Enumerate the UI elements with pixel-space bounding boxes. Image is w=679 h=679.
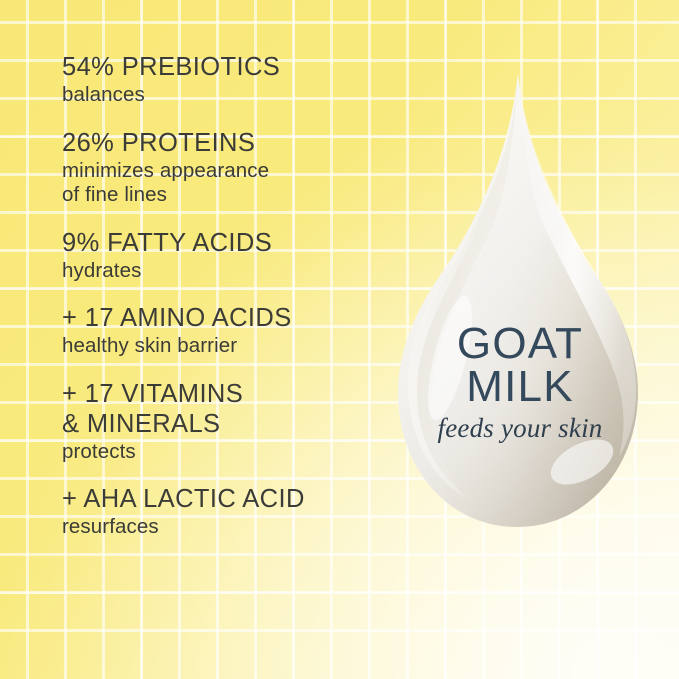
ingredient-item-aha-lactic-acid: + AHA LACTIC ACID resurfaces	[62, 484, 382, 540]
ingredient-benefit: minimizes appearance of fine lines	[62, 159, 382, 208]
ingredient-benefit: protects	[62, 440, 382, 465]
brand-tagline: feeds your skin	[396, 412, 644, 444]
ingredient-heading: 54% PREBIOTICS	[62, 52, 382, 82]
brand-name-line-2: MILK	[396, 365, 644, 408]
ingredient-benefit: balances	[62, 83, 382, 108]
ingredient-heading: + 17 AMINO ACIDS	[62, 303, 382, 333]
brand-name-line-1: GOAT	[396, 322, 644, 365]
ingredient-item-vitamins-minerals: + 17 VITAMINS & MINERALS protects	[62, 379, 382, 465]
ingredient-benefit: healthy skin barrier	[62, 334, 382, 359]
ingredient-benefit: resurfaces	[62, 515, 382, 540]
brand-lockup: GOAT MILK feeds your skin	[396, 322, 644, 444]
ingredient-item-fatty-acids: 9% FATTY ACIDS hydrates	[62, 228, 382, 284]
milk-droplet-icon	[386, 58, 654, 550]
ingredient-item-amino-acids: + 17 AMINO ACIDS healthy skin barrier	[62, 303, 382, 359]
ingredient-item-proteins: 26% PROTEINS minimizes appearance of fin…	[62, 128, 382, 208]
ingredient-heading: 9% FATTY ACIDS	[62, 228, 382, 258]
ingredient-heading: 26% PROTEINS	[62, 128, 382, 158]
ingredient-heading: + 17 VITAMINS & MINERALS	[62, 379, 382, 439]
ingredient-list: 54% PREBIOTICS balances 26% PROTEINS min…	[62, 52, 382, 540]
ingredient-heading: + AHA LACTIC ACID	[62, 484, 382, 514]
ingredient-item-prebiotics: 54% PREBIOTICS balances	[62, 52, 382, 108]
ingredient-benefit: hydrates	[62, 259, 382, 284]
goat-milk-infographic: 54% PREBIOTICS balances 26% PROTEINS min…	[0, 0, 679, 679]
